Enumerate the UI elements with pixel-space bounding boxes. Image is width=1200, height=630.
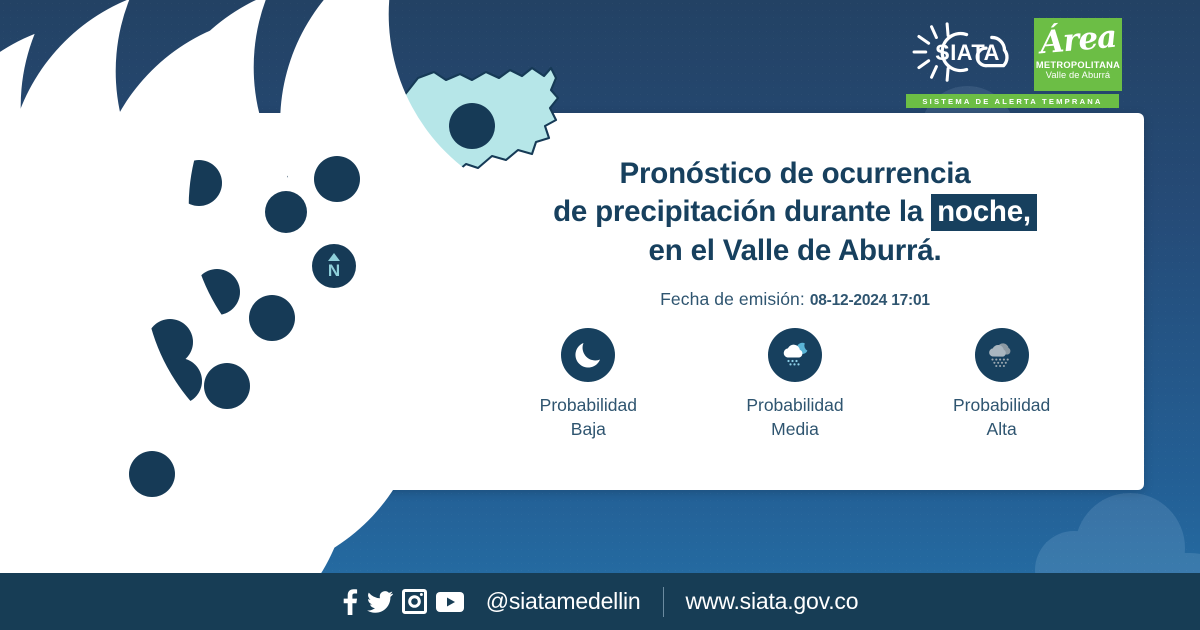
siata-tagline-text: SISTEMA DE ALERTA TEMPRANA — [922, 97, 1102, 106]
social-icons — [342, 589, 464, 615]
emission-date-value: 08-12-2024 17:01 — [810, 292, 930, 309]
legend-icon-wrap-baja — [561, 328, 615, 382]
area-logo-line1: METROPOLITANA — [1036, 60, 1120, 70]
headline-line-2-text: de precipitación durante la — [553, 195, 923, 228]
legend-label-media-line2: Media — [746, 418, 843, 442]
siata-logo: SIATA SISTEMA DE ALERTA TEMPRANA — [906, 18, 1031, 88]
legend-item-media: Probabilidad Media — [705, 328, 885, 441]
social-handle[interactable]: @siatamedellin — [486, 588, 641, 615]
siata-tagline-bar: SISTEMA DE ALERTA TEMPRANA — [906, 94, 1119, 108]
area-logo-line2: Valle de Aburrá — [1046, 70, 1110, 80]
website-url[interactable]: www.siata.gov.co — [686, 588, 859, 615]
youtube-icon[interactable] — [436, 592, 464, 612]
legend-label-baja-line2: Baja — [540, 418, 637, 442]
instagram-icon[interactable] — [402, 589, 427, 614]
legend-label-media: Probabilidad Media — [746, 394, 843, 441]
legend-label-alta: Probabilidad Alta — [953, 394, 1050, 441]
headline-highlight-noche: noche, — [931, 194, 1037, 231]
twitter-icon[interactable] — [367, 591, 393, 613]
area-logo-script: Área — [1039, 22, 1118, 60]
headline-line-2: de precipitación durante la noche, — [455, 193, 1135, 231]
headline-line-3: en el Valle de Aburrá. — [455, 232, 1135, 270]
area-metropolitana-logo: Área METROPOLITANA Valle de Aburrá — [1034, 18, 1122, 91]
logo-group: SIATA SISTEMA DE ALERTA TEMPRANA Área ME… — [906, 18, 1122, 91]
footer-bar: @siatamedellin www.siata.gov.co — [0, 573, 1200, 630]
legend-item-alta: Probabilidad Alta — [912, 328, 1092, 441]
svg-text:SIATA: SIATA — [935, 40, 1000, 65]
legend-icon-wrap-alta — [975, 328, 1029, 382]
legend-label-alta-line2: Alta — [953, 418, 1050, 442]
emission-date: Fecha de emisión: 08-12-2024 17:01 — [455, 289, 1135, 310]
legend-label-media-line1: Probabilidad — [746, 394, 843, 418]
cloud-moon-rain-icon — [777, 337, 813, 373]
moon-icon — [571, 338, 605, 372]
infographic-root: N Pronóstico de ocurrencia de precipitac… — [0, 0, 1200, 630]
headline-line-1: Pronóstico de ocurrencia — [455, 155, 1135, 193]
cloud-heavy-rain-icon — [984, 337, 1020, 373]
footer-divider — [663, 587, 664, 617]
facebook-icon[interactable] — [342, 589, 358, 615]
forecast-text-block: Pronóstico de ocurrencia de precipitació… — [455, 155, 1135, 310]
legend-label-baja: Probabilidad Baja — [540, 394, 637, 441]
emission-date-label: Fecha de emisión: — [660, 289, 805, 309]
legend-item-baja: Probabilidad Baja — [498, 328, 678, 441]
probability-legend: Probabilidad Baja — [485, 328, 1105, 441]
legend-label-alta-line1: Probabilidad — [953, 394, 1050, 418]
legend-icon-wrap-media — [768, 328, 822, 382]
page-title: Pronóstico de ocurrencia de precipitació… — [455, 155, 1135, 270]
legend-label-baja-line1: Probabilidad — [540, 394, 637, 418]
siata-sun-cloud-icon: SIATA — [906, 18, 1031, 88]
